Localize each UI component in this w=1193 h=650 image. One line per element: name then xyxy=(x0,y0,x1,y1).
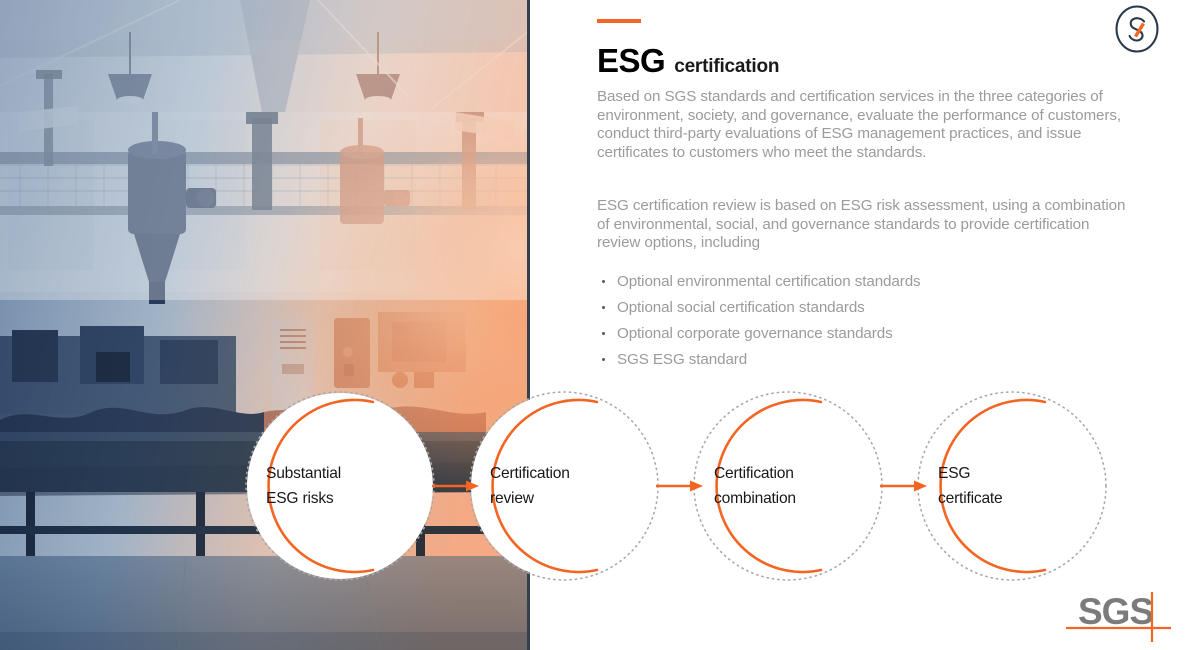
sgs-circle-s-icon xyxy=(1112,4,1162,54)
page-title: ESG certification xyxy=(597,42,779,80)
bullet-dot-icon xyxy=(602,280,605,283)
list-item: Optional corporate governance standards xyxy=(597,321,1067,347)
title-sub: certification xyxy=(674,56,779,78)
sgs-wordmark-text: SGS xyxy=(1078,591,1153,632)
photo-right-edge xyxy=(527,0,530,650)
list-item-label: Optional social certification standards xyxy=(617,299,865,316)
bullet-dot-icon xyxy=(602,306,605,309)
content-panel: ESG certification Based on SGS standards… xyxy=(597,0,1193,650)
list-item-label: Optional environmental certification sta… xyxy=(617,273,921,290)
bullet-dot-icon xyxy=(602,358,605,361)
list-item-label: SGS ESG standard xyxy=(617,351,747,368)
standards-list: Optional environmental certification sta… xyxy=(597,269,1067,373)
intro-paragraph: Based on SGS standards and certification… xyxy=(597,88,1132,162)
review-paragraph: ESG certification review is based on ESG… xyxy=(597,197,1132,253)
factory-photo xyxy=(0,0,530,650)
list-item: SGS ESG standard xyxy=(597,347,1067,373)
list-item: Optional social certification standards xyxy=(597,295,1067,321)
factory-photo-illustration xyxy=(0,0,530,650)
bullet-dot-icon xyxy=(602,332,605,335)
list-item: Optional environmental certification sta… xyxy=(597,269,1067,295)
list-item-label: Optional corporate governance standards xyxy=(617,325,893,342)
accent-bar xyxy=(597,19,641,23)
slide-canvas: ESG certification Based on SGS standards… xyxy=(0,0,1193,650)
title-main: ESG xyxy=(597,42,665,80)
sgs-wordmark-logo: SGS xyxy=(1066,586,1171,642)
